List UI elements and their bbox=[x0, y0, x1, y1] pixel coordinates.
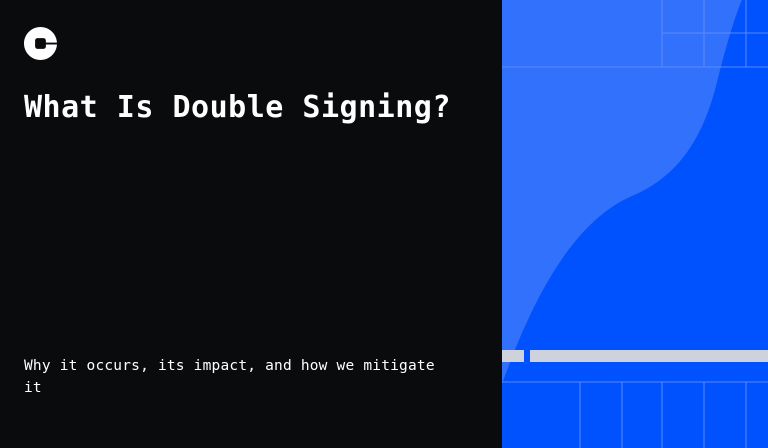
decorative-blue-panel bbox=[502, 0, 768, 448]
presentation-slide: What Is Double Signing? Why it occurs, i… bbox=[0, 0, 768, 448]
slide-title: What Is Double Signing? bbox=[24, 88, 484, 128]
accent-bar-segment-left bbox=[502, 350, 524, 362]
coinbase-logo-icon bbox=[24, 27, 57, 60]
blue-curve-grid-graphic bbox=[502, 0, 768, 448]
slide-content-panel: What Is Double Signing? Why it occurs, i… bbox=[0, 0, 502, 448]
accent-bar-segment-right bbox=[530, 350, 768, 362]
slide-subtitle: Why it occurs, its impact, and how we mi… bbox=[24, 355, 454, 399]
